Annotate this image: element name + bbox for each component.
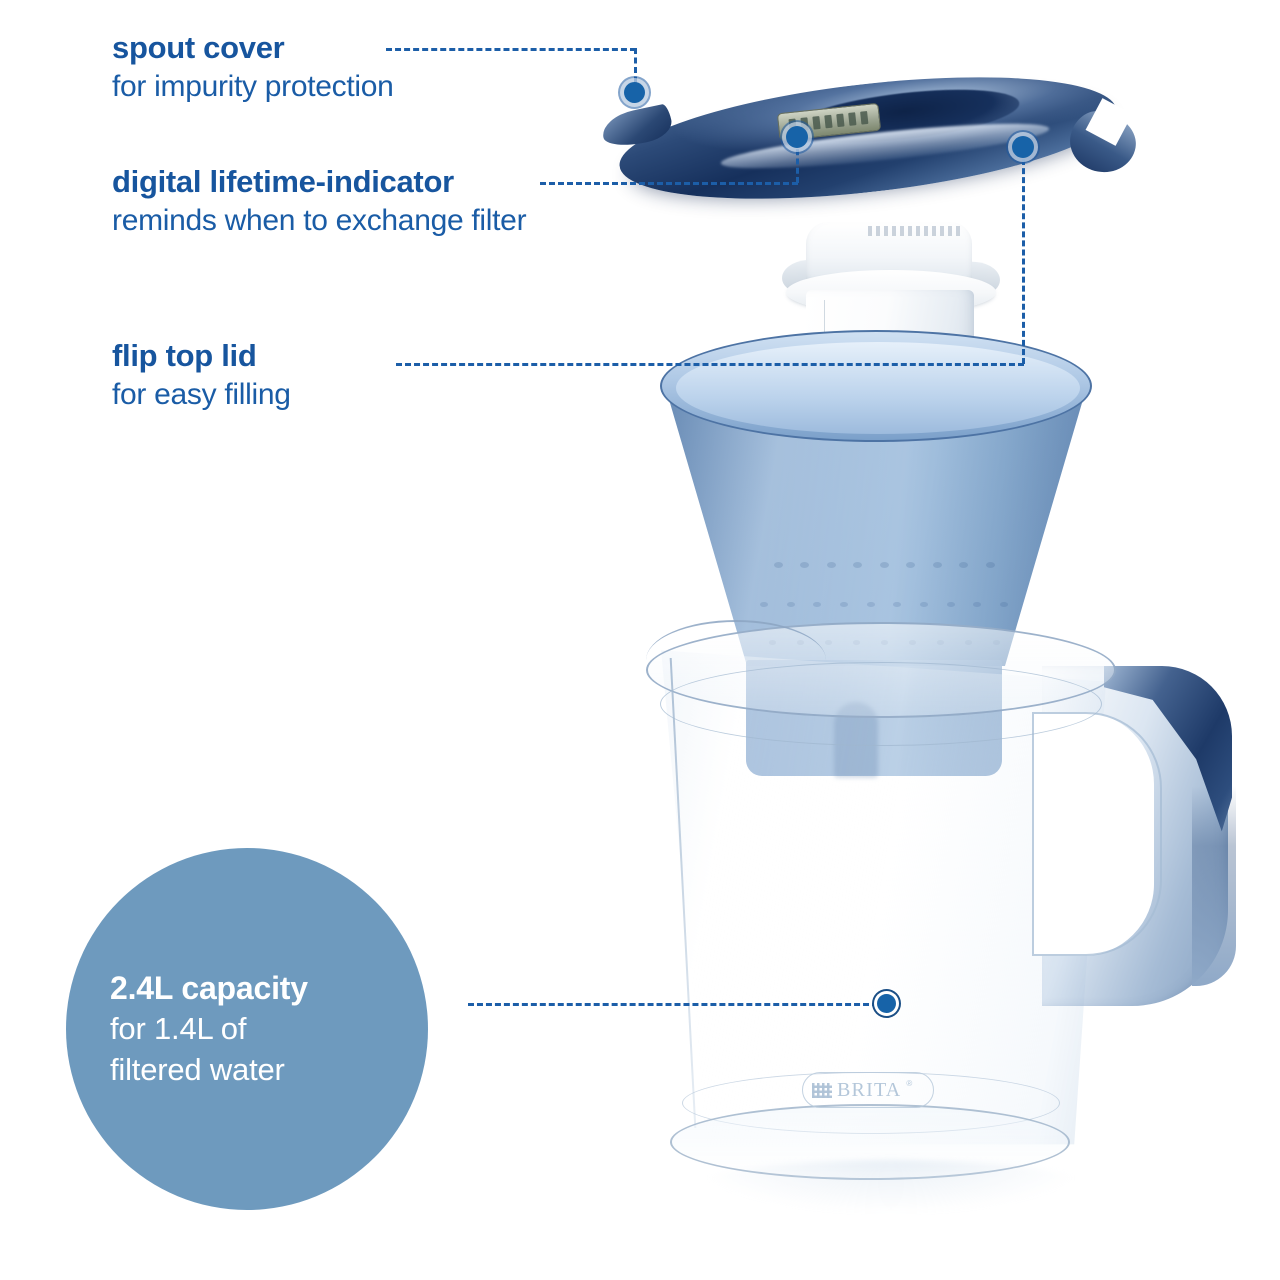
funnel-rim (660, 330, 1092, 442)
lid-assembly (600, 68, 1140, 208)
jug-rim-inner (660, 662, 1102, 746)
callout-flip-top-lid-subtitle: for easy filling (112, 378, 291, 413)
brita-logo-badge: BRITA ® (802, 1072, 934, 1108)
funnel-hole (827, 562, 836, 568)
callout-digital-lifetime-indicator-subtitle: reminds when to exchange filter (112, 204, 526, 239)
spout-cover-marker[interactable] (624, 82, 645, 103)
connector-spout-cover-horizontal (386, 48, 636, 51)
funnel-hole (800, 562, 809, 568)
callout-flip-top-lid: flip top lid for easy filling (112, 338, 291, 413)
callout-spout-cover-title: spout cover (112, 30, 394, 66)
capacity-marker[interactable] (877, 994, 896, 1013)
connector-flip-top-lid-vertical (1022, 150, 1025, 364)
funnel-hole (853, 562, 862, 568)
funnel-hole (906, 562, 915, 568)
funnel-rim-inner (676, 342, 1080, 434)
callout-digital-lifetime-indicator-title: digital lifetime-indicator (112, 164, 526, 200)
infographic-canvas: BRITA ® spout cover for impurity protect… (0, 0, 1280, 1280)
callout-flip-top-lid-title: flip top lid (112, 338, 291, 374)
callout-digital-lifetime-indicator: digital lifetime-indicator reminds when … (112, 164, 526, 239)
funnel-hole (774, 562, 783, 568)
handle-navy-edge (1192, 786, 1236, 986)
flip-top-lid-marker[interactable] (1012, 136, 1034, 158)
capacity-line-3: filtered water (110, 1050, 428, 1091)
brita-registered-mark: ® (906, 1079, 912, 1088)
brita-wordmark: BRITA (837, 1079, 901, 1102)
connector-capacity-horizontal (468, 1003, 878, 1006)
callout-spout-cover-subtitle: for impurity protection (112, 70, 394, 105)
cartridge-logo-strip (868, 226, 960, 236)
funnel-hole (880, 562, 889, 568)
connector-digital-indicator-horizontal (540, 182, 798, 185)
handle-opening-outline (1032, 712, 1162, 956)
callout-spout-cover: spout cover for impurity protection (112, 30, 394, 105)
connector-flip-top-lid-horizontal (396, 363, 1024, 366)
digital-indicator-marker[interactable] (786, 126, 808, 148)
funnel-hole (986, 562, 995, 568)
brita-grid-icon (812, 1083, 832, 1098)
funnel-hole (959, 562, 968, 568)
jug-reflection (696, 1160, 1086, 1212)
capacity-badge: 2.4L capacity for 1.4L of filtered water (66, 848, 428, 1210)
capacity-headline: 2.4L capacity (110, 967, 428, 1009)
capacity-line-2: for 1.4L of (110, 1009, 428, 1050)
funnel-hole (933, 562, 942, 568)
jug: BRITA ® (624, 604, 1224, 1184)
